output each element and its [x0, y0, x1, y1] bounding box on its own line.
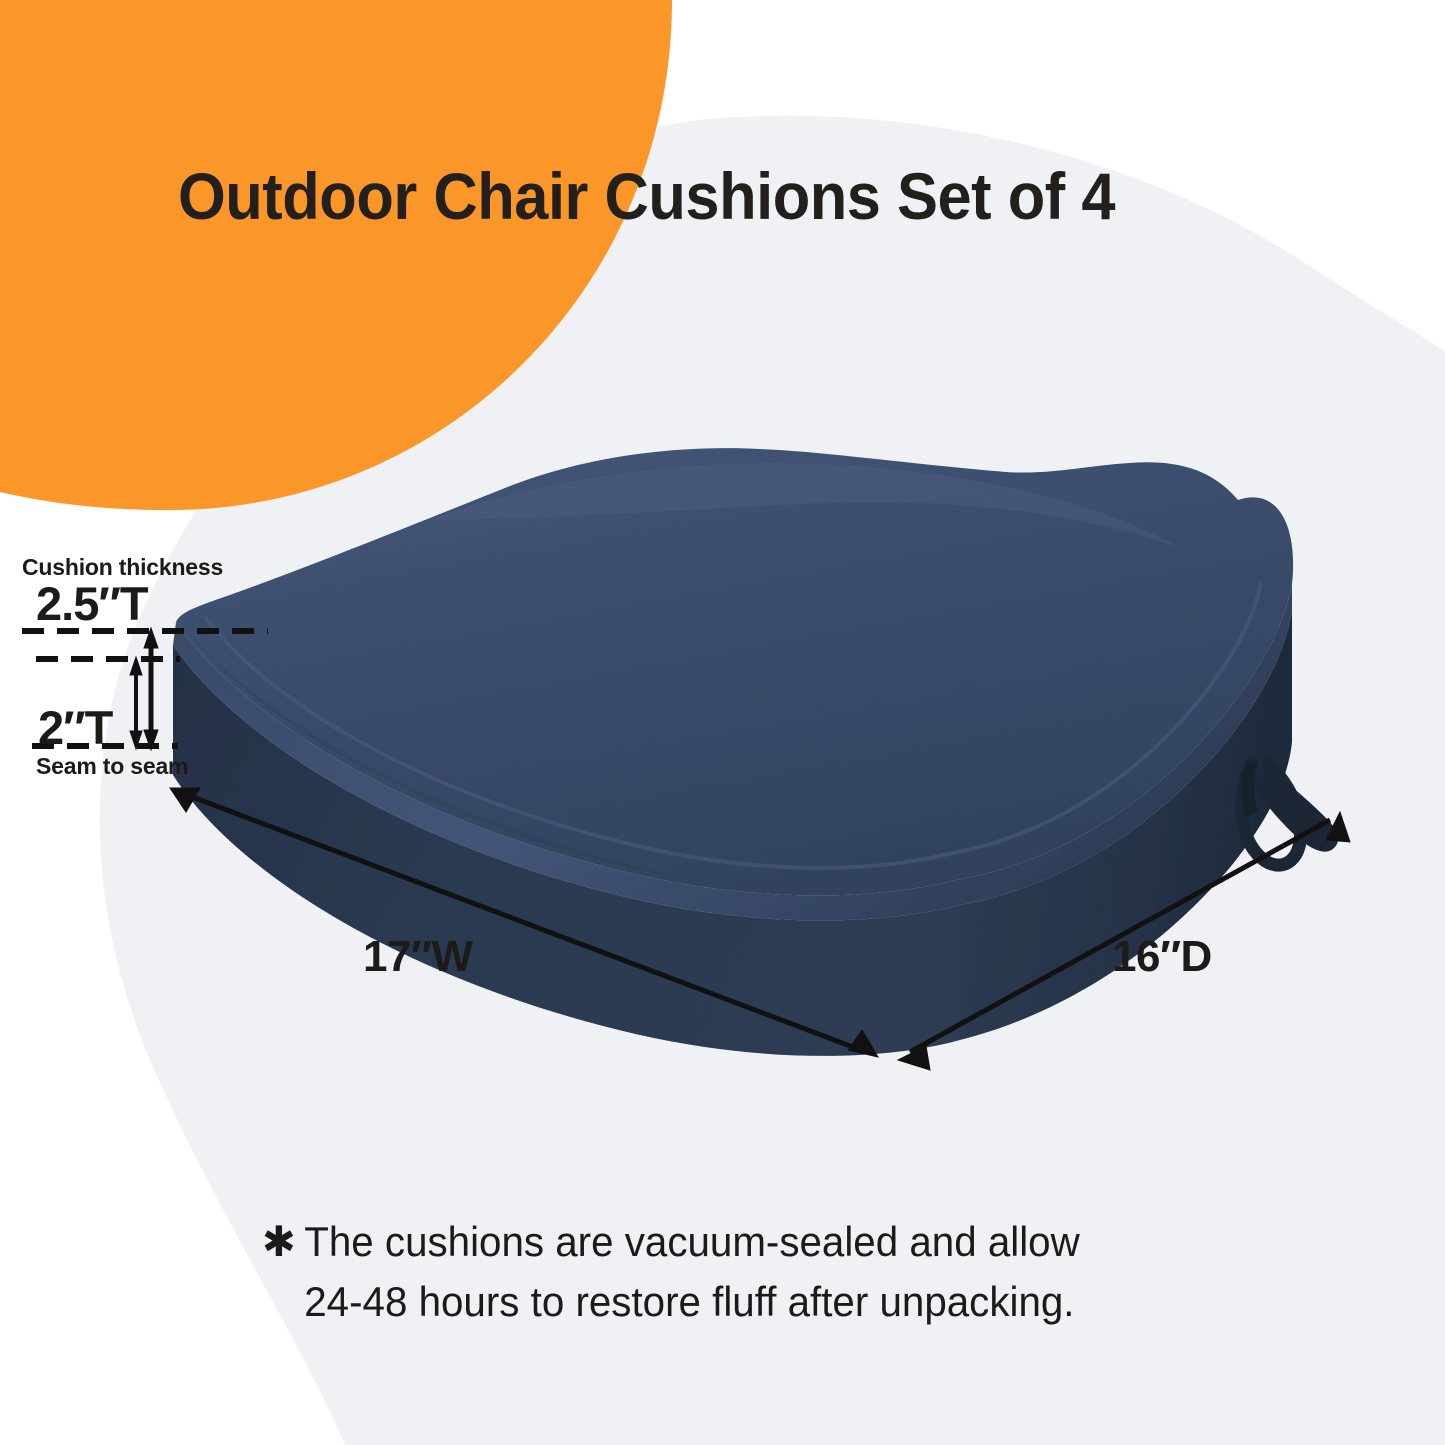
footnote-line-1: The cushions are vacuum-sealed and allow	[304, 1218, 1079, 1265]
width-dimension-label: 17″W	[363, 932, 473, 982]
asterisk-icon: ✱	[262, 1212, 304, 1272]
footnote-line-2: 24-48 hours to restore fluff after unpac…	[262, 1272, 1184, 1332]
footnote: ✱The cushions are vacuum-sealed and allo…	[262, 1212, 1184, 1331]
infographic-canvas: Outdoor Chair Cushions Set of 4 Cushion …	[0, 0, 1445, 1445]
arrowhead-seam-up	[130, 657, 142, 675]
cushion-thickness-value: 2.5″T	[36, 576, 148, 631]
depth-dimension-label: 16″D	[1112, 932, 1212, 982]
seam-to-seam-value: 2″T	[38, 700, 112, 755]
page-title: Outdoor Chair Cushions Set of 4	[178, 158, 1275, 234]
seam-to-seam-caption: Seam to seam	[36, 753, 188, 780]
